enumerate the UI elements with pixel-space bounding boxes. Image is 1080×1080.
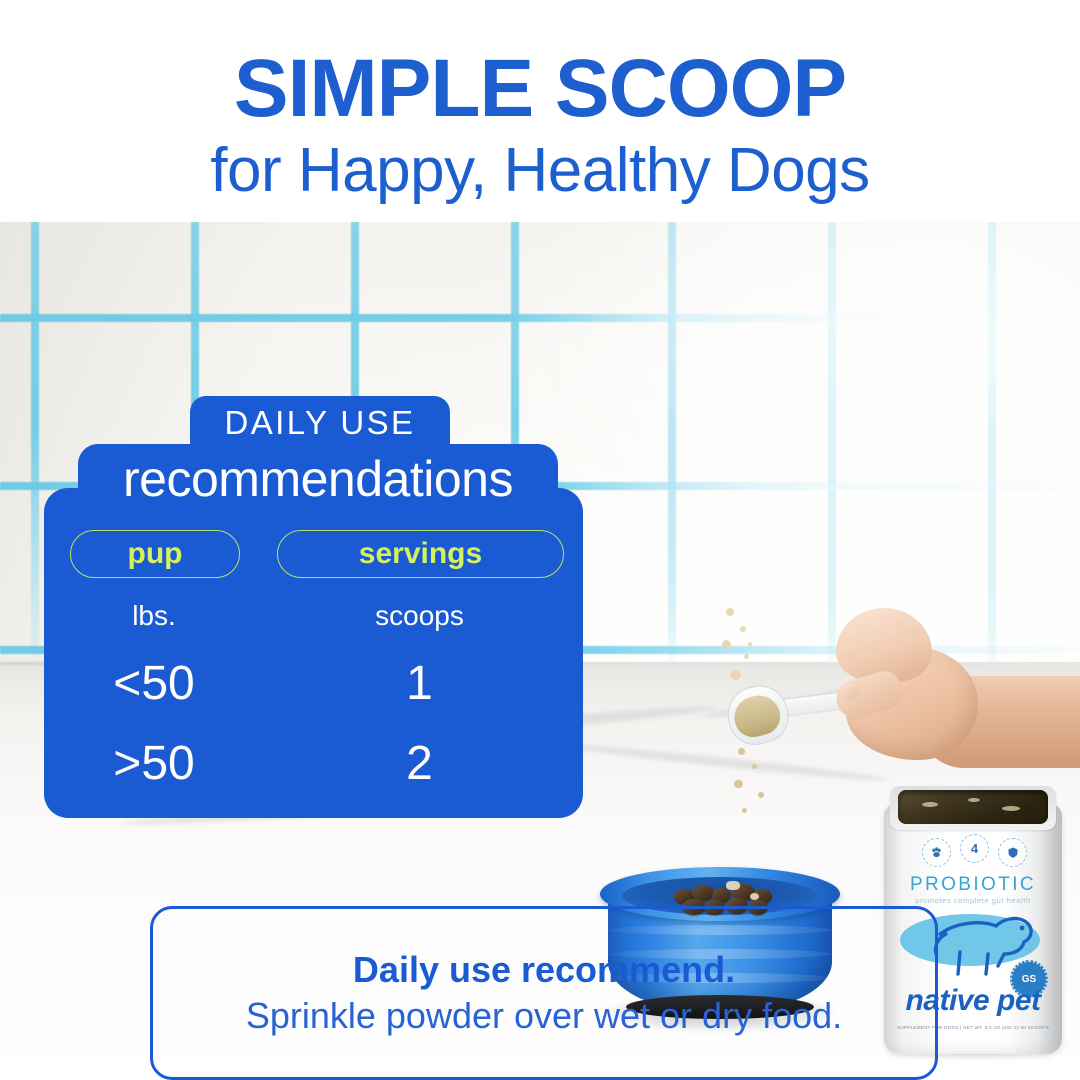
unit-lbs: lbs.	[70, 600, 238, 632]
product-infographic: 4 PROBIOTIC promotes complete gut health…	[0, 0, 1080, 1080]
shield-badge	[998, 838, 1027, 867]
pup-label: pup	[128, 537, 183, 571]
usage-instructions-box: Daily use recommend. Sprinkle powder ove…	[150, 906, 938, 1080]
row-1-weight: <50	[70, 656, 238, 711]
column-header-servings: servings	[277, 530, 564, 578]
count-badge: 4	[960, 834, 989, 863]
headline: SIMPLE SCOOP	[0, 48, 1080, 130]
card-title: recommendations	[78, 450, 558, 508]
paw-icon	[930, 846, 943, 859]
column-header-pup: pup	[70, 530, 240, 578]
tin-opening	[898, 790, 1048, 824]
page-title: SIMPLE SCOOP	[0, 48, 1080, 130]
card-eyebrow: DAILY USE	[190, 404, 450, 442]
row-2-weight: >50	[70, 736, 238, 791]
row-2-scoops: 2	[277, 736, 562, 791]
page-subtitle: for Happy, Healthy Dogs	[0, 140, 1080, 202]
paw-badge	[922, 838, 951, 867]
shield-icon	[1007, 846, 1019, 859]
instruction-line-2: Sprinkle powder over wet or dry food.	[246, 995, 842, 1037]
unit-scoops: scoops	[277, 600, 562, 632]
grout-line-vertical	[31, 222, 39, 674]
tin-product-name: PROBIOTIC	[884, 874, 1062, 896]
servings-label: servings	[359, 537, 482, 571]
subheadline: for Happy, Healthy Dogs	[0, 140, 1080, 202]
row-1-scoops: 1	[277, 656, 562, 711]
instruction-line-1: Daily use recommend.	[353, 949, 735, 991]
